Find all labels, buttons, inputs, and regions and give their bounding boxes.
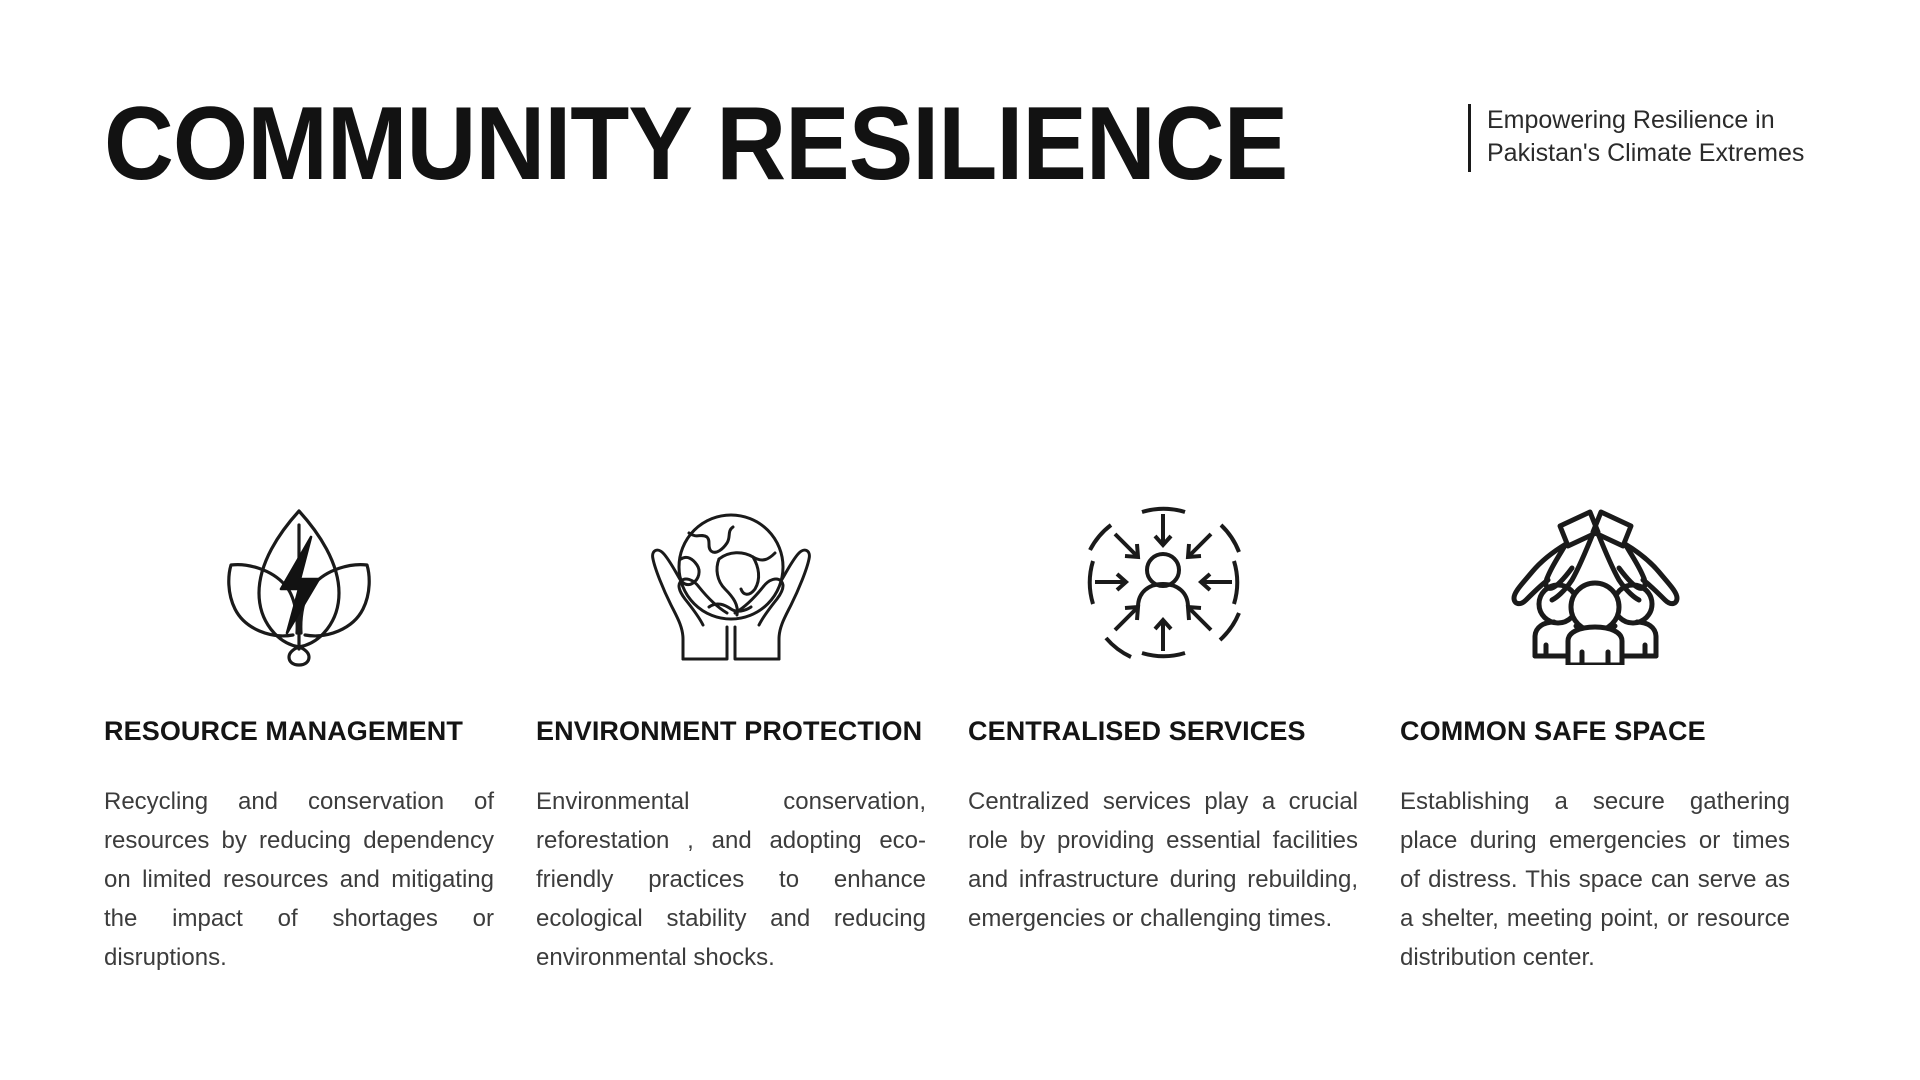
feature-card-environment-protection: ENVIRONMENT PROTECTION Environmental con… bbox=[536, 492, 926, 977]
leaf-lightning-icon bbox=[104, 492, 494, 672]
card-heading: CENTRALISED SERVICES bbox=[968, 716, 1358, 747]
card-heading: COMMON SAFE SPACE bbox=[1400, 716, 1790, 747]
hands-holding-globe-icon bbox=[536, 492, 926, 672]
page-title: COMMUNITY RESILIENCE bbox=[104, 92, 1287, 196]
feature-card-resource-management: RESOURCE MANAGEMENT Recycling and conser… bbox=[104, 492, 494, 977]
hands-over-people-icon bbox=[1400, 492, 1790, 672]
feature-card-centralised-services: CENTRALISED SERVICES Centralized service… bbox=[968, 492, 1358, 977]
slide-canvas: COMMUNITY RESILIENCE Empowering Resilien… bbox=[0, 0, 1920, 1080]
slide-header: COMMUNITY RESILIENCE Empowering Resilien… bbox=[0, 0, 1920, 260]
card-body: Recycling and conservation of resources … bbox=[104, 783, 494, 977]
tagline: Empowering Resilience in Pakistan's Clim… bbox=[1468, 104, 1804, 172]
card-body: Establishing a secure gathering place du… bbox=[1400, 783, 1790, 977]
card-body: Centralized services play a crucial role… bbox=[968, 783, 1358, 939]
person-inward-arrows-icon bbox=[968, 492, 1358, 672]
feature-cards-row: RESOURCE MANAGEMENT Recycling and conser… bbox=[104, 492, 1844, 977]
tagline-line-1: Empowering Resilience in bbox=[1487, 104, 1804, 137]
tagline-divider bbox=[1468, 104, 1471, 172]
card-heading: ENVIRONMENT PROTECTION bbox=[536, 716, 926, 747]
tagline-line-2: Pakistan's Climate Extremes bbox=[1487, 137, 1804, 170]
card-body: Environmental conservation, reforestatio… bbox=[536, 783, 926, 977]
card-heading: RESOURCE MANAGEMENT bbox=[104, 716, 494, 747]
tagline-text: Empowering Resilience in Pakistan's Clim… bbox=[1487, 104, 1804, 170]
feature-card-common-safe-space: COMMON SAFE SPACE Establishing a secure … bbox=[1400, 492, 1790, 977]
